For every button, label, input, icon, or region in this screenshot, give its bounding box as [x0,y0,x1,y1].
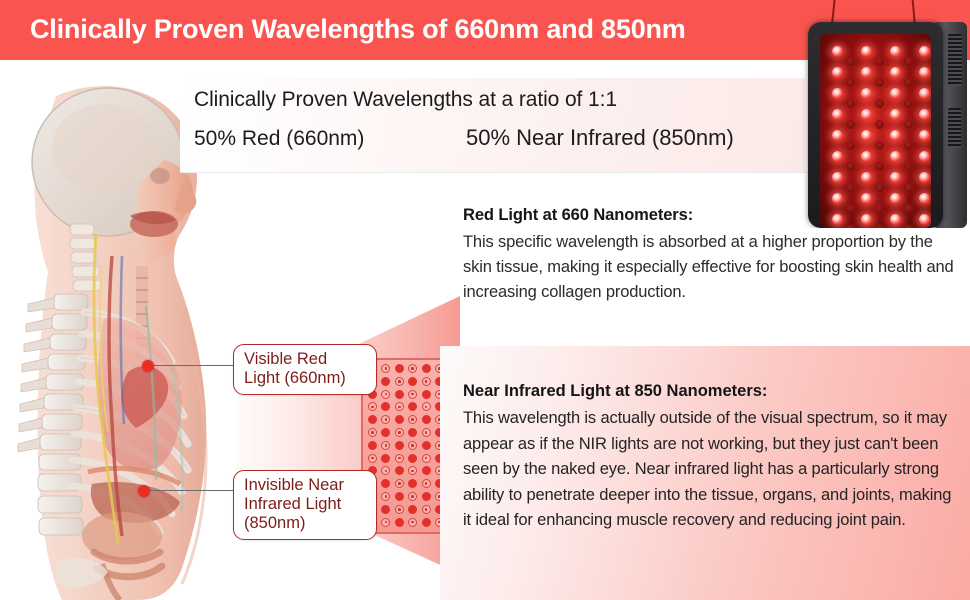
subtitle-nir-share: 50% Near Infrared (850nm) [466,125,734,151]
led-dot-nir [381,492,390,501]
product-led-dim [846,204,855,213]
led-dot-red [422,390,431,399]
led-dot-red [422,466,431,475]
led-dot-red [368,441,377,450]
product-led-bright [919,88,930,99]
product-led-bright [861,151,872,162]
body-marker-dot-red [142,360,154,372]
product-led-bright [890,193,901,204]
product-led-bright [861,130,872,141]
led-dot-nir [368,428,377,437]
callout-visible-red: Visible Red Light (660nm) [233,344,377,395]
product-led-bright [919,193,930,204]
product-led-bright [919,172,930,183]
led-dot-red [368,415,377,424]
nir-section: Near Infrared Light at 850 Nanometers: T… [463,382,955,534]
led-dot-red [381,377,390,386]
led-dot-red [422,441,431,450]
product-led-dim [846,99,855,108]
product-led-dim [875,57,884,66]
led-dot-red [422,518,431,527]
product-led-dim [904,183,913,192]
led-dot-nir [408,441,417,450]
product-led-bright [890,109,901,120]
product-led-bright [919,214,930,225]
product-led-bright [861,67,872,78]
led-dot-nir [422,479,431,488]
callout-invisible-nir-label: Invisible Near Infrared Light (850nm) [244,476,344,532]
product-led-dim [846,183,855,192]
product-led-dim [846,225,855,228]
led-dot-red [422,415,431,424]
led-dot-nir [381,364,390,373]
product-led-bright [861,109,872,120]
led-dot-nir [408,364,417,373]
red-light-body: This specific wavelength is absorbed at … [463,230,963,305]
product-led-bright [861,46,872,57]
led-dot-nir [395,505,404,514]
led-dot-red [408,377,417,386]
callout-visible-red-label: Visible Red Light (660nm) [244,350,346,387]
led-dot-nir [368,454,377,463]
led-dot-red [395,441,404,450]
product-led-bright [890,46,901,57]
product-led-bright [832,88,843,99]
led-dot-nir [381,390,390,399]
led-dot-nir [422,377,431,386]
led-dot-nir [422,505,431,514]
product-led-bright [919,67,930,78]
product-led-dim [846,162,855,171]
product-led-bright [861,172,872,183]
product-led-bright [890,88,901,99]
product-led-dim [904,204,913,213]
product-led-bright [861,214,872,225]
product-led-bright [890,67,901,78]
led-dot-red [395,364,404,373]
led-dot-nir [368,402,377,411]
device-vents-lower [948,108,961,148]
product-led-dim [846,57,855,66]
led-dot-red [408,428,417,437]
product-photo-led-panel [793,0,970,228]
product-led-dim [846,120,855,129]
product-led-dim [904,120,913,129]
product-led-dim [904,162,913,171]
nir-heading: Near Infrared Light at 850 Nanometers: [463,382,955,401]
subtitle-ratio-line: Clinically Proven Wavelengths at a ratio… [194,88,617,112]
led-dot-red [395,492,404,501]
device-vents-upper [948,34,962,86]
product-led-dim [875,120,884,129]
led-dot-red [395,415,404,424]
device-housing [808,22,943,228]
led-dot-nir [408,466,417,475]
led-dot-red [381,428,390,437]
product-led-dim [846,78,855,87]
product-led-bright [832,172,843,183]
product-led-bright [832,46,843,57]
infographic-canvas: Visible Red Light (660nm) Invisible Near… [0,0,970,600]
led-dot-nir [395,402,404,411]
product-led-dim [875,99,884,108]
led-dot-red [422,492,431,501]
product-led-dim [875,162,884,171]
product-led-bright [861,193,872,204]
product-led-dim [875,78,884,87]
product-led-bright [919,151,930,162]
led-dot-nir [381,415,390,424]
product-led-dim [904,141,913,150]
product-led-bright [919,130,930,141]
product-led-dim [875,204,884,213]
led-dot-red [381,479,390,488]
led-dot-red [408,402,417,411]
callout-invisible-nir: Invisible Near Infrared Light (850nm) [233,470,377,540]
led-dot-red [422,364,431,373]
product-led-dim [875,183,884,192]
led-dot-nir [395,454,404,463]
near-infrared-panel: Near Infrared Light at 850 Nanometers: T… [440,346,970,600]
subtitle-divider [180,172,820,173]
product-led-dim [904,99,913,108]
led-dot-red [408,505,417,514]
product-led-bright [832,109,843,120]
product-led-bright [890,151,901,162]
led-dot-red [381,454,390,463]
product-led-dim [846,141,855,150]
led-dot-red [408,454,417,463]
product-led-dim [904,78,913,87]
product-led-dim [875,141,884,150]
nir-body: This wavelength is actually outside of t… [463,406,955,534]
leader-line-red [154,365,234,366]
led-dot-red [395,390,404,399]
led-dot-nir [422,402,431,411]
led-dot-red [395,518,404,527]
led-dot-nir [408,415,417,424]
led-dot-nir [408,492,417,501]
led-dot-nir [395,479,404,488]
subtitle-panel: Clinically Proven Wavelengths at a ratio… [180,78,805,172]
led-dot-nir [381,441,390,450]
subtitle-red-share: 50% Red (660nm) [194,127,364,151]
led-dot-nir [408,518,417,527]
led-dot-nir [381,466,390,475]
led-dot-nir [395,377,404,386]
product-led-bright [861,88,872,99]
led-dot-red [408,479,417,488]
led-dot-nir [381,518,390,527]
product-led-bright [832,151,843,162]
led-dot-red [395,466,404,475]
led-dot-nir [422,428,431,437]
product-led-dim [875,225,884,228]
body-marker-dot-nir [138,485,150,497]
product-led-bright [832,130,843,141]
product-led-bright [832,214,843,225]
product-led-dim [904,57,913,66]
led-dot-red [381,505,390,514]
led-dot-red [381,402,390,411]
product-led-bright [890,172,901,183]
led-dot-nir [395,428,404,437]
led-dot-nir [408,390,417,399]
product-led-bright [832,193,843,204]
product-led-bright [890,214,901,225]
product-led-dim [904,225,913,228]
leader-line-nir [150,490,234,491]
product-led-bright [919,109,930,120]
page-title: Clinically Proven Wavelengths of 660nm a… [30,11,820,48]
led-dot-nir [422,454,431,463]
product-led-bright [832,67,843,78]
device-led-array [820,34,931,228]
product-led-bright [890,130,901,141]
product-led-bright [919,46,930,57]
